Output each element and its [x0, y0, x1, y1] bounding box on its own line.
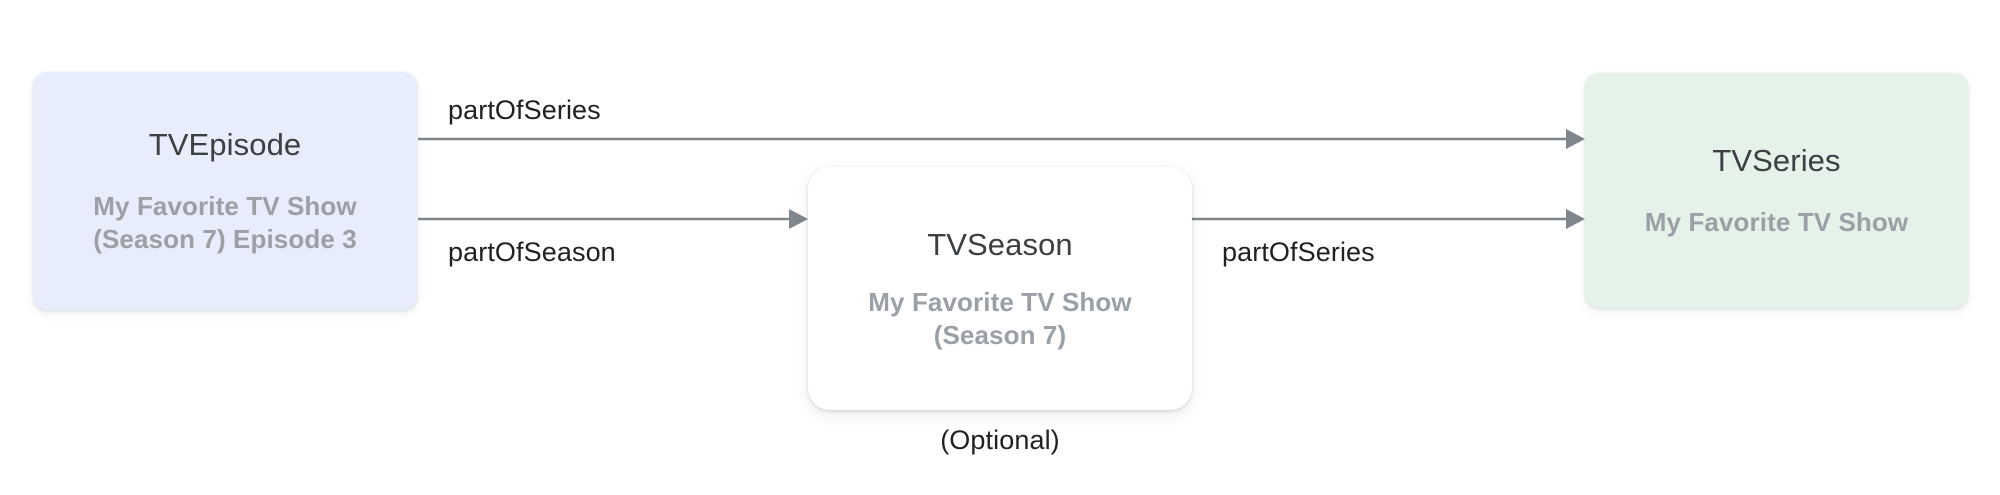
edge-episode-to-series [418, 129, 1585, 149]
edge-label-episode-to-series: partOfSeries [448, 94, 601, 126]
edge-season-to-series-arrowhead [1566, 209, 1585, 229]
node-tvseason-subtitle: My Favorite TV Show (Season 7) [868, 286, 1131, 352]
node-tvseries-subtitle: My Favorite TV Show [1645, 206, 1908, 239]
node-tvseason-title: TVSeason [927, 226, 1073, 264]
edge-episode-to-season [418, 209, 808, 229]
node-tvepisode-subtitle: My Favorite TV Show (Season 7) Episode 3 [93, 190, 357, 256]
edge-season-to-series [1190, 209, 1585, 229]
node-tvepisode-title: TVEpisode [149, 126, 302, 164]
edge-episode-to-season-arrowhead [789, 209, 808, 229]
diagram-canvas: TVEpisode My Favorite TV Show (Season 7)… [0, 0, 2000, 495]
node-tvepisode[interactable]: TVEpisode My Favorite TV Show (Season 7)… [33, 72, 417, 310]
node-tvseason[interactable]: TVSeason My Favorite TV Show (Season 7) [808, 167, 1192, 410]
edge-label-season-to-series: partOfSeries [1222, 236, 1375, 268]
node-tvseason-optional-note: (Optional) [808, 424, 1192, 456]
node-tvseries-title: TVSeries [1712, 142, 1840, 180]
edge-label-episode-to-season: partOfSeason [448, 236, 616, 268]
edge-episode-to-series-arrowhead [1566, 129, 1585, 149]
node-tvseries[interactable]: TVSeries My Favorite TV Show [1585, 73, 1968, 308]
